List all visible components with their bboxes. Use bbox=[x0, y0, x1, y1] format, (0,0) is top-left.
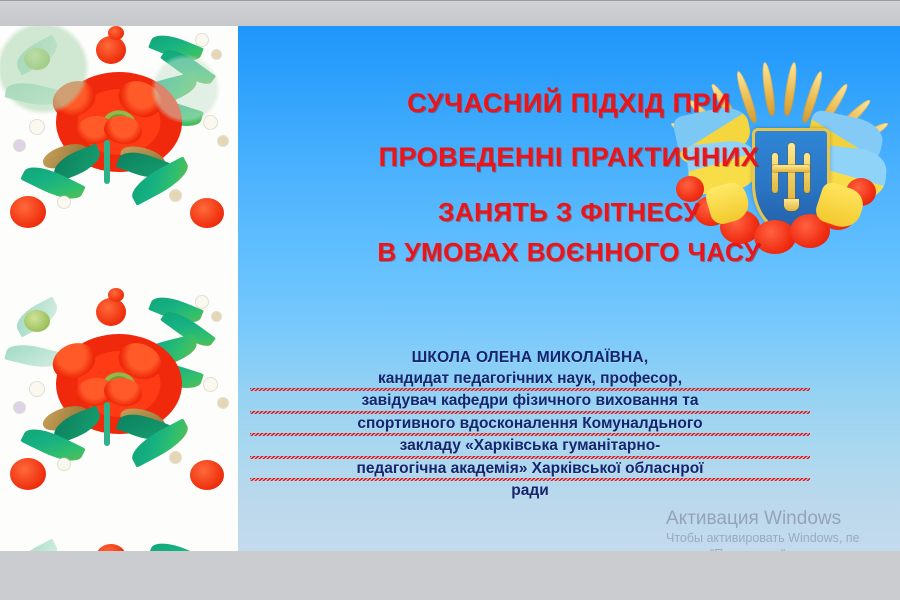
title-line-1: СУЧАСНИЙ ПІДХІД ПРИ bbox=[238, 88, 900, 119]
slide-title: СУЧАСНИЙ ПІДХІД ПРИ ПРОВЕДЕННІ ПРАКТИЧНИ… bbox=[238, 26, 900, 268]
author-line-4: спортивного вдосконалення Комуналдьного bbox=[250, 414, 810, 437]
title-line-2: ПРОВЕДЕННІ ПРАКТИЧНИХ bbox=[238, 142, 900, 173]
author-line-3: завідувач кафедри фізичного виховання та bbox=[250, 391, 810, 414]
windows-activation-watermark: Активация Windows Чтобы активировать Win… bbox=[666, 507, 900, 551]
slide-canvas: СУЧАСНИЙ ПІДХІД ПРИ ПРОВЕДЕННІ ПРАКТИЧНИ… bbox=[0, 26, 900, 551]
slide-author-block: ШКОЛА ОЛЕНА МИКОЛАЇВНА, кандидат педагог… bbox=[250, 348, 810, 502]
author-name: ШКОЛА ОЛЕНА МИКОЛАЇВНА, bbox=[250, 348, 810, 369]
presentation-window: СУЧАСНИЙ ПІДХІД ПРИ ПРОВЕДЕННІ ПРАКТИЧНИ… bbox=[0, 0, 900, 600]
floral-motif-unit bbox=[0, 544, 238, 551]
watermark-title: Активация Windows bbox=[666, 507, 900, 530]
title-line-4: В УМОВАХ ВОЄННОГО ЧАСУ bbox=[238, 237, 900, 268]
window-chrome-top-bar bbox=[0, 0, 900, 26]
window-chrome-bottom-bar bbox=[0, 551, 900, 600]
title-line-3: ЗАНЯТЬ З ФІТНЕСУ bbox=[238, 197, 900, 228]
watermark-line-1: Чтобы активировать Windows, пе bbox=[666, 530, 900, 546]
petrykivka-floral-border bbox=[0, 26, 238, 551]
author-line-7: ради bbox=[250, 481, 810, 502]
author-line-6: педагогічна академія» Харківської обласн… bbox=[250, 459, 810, 482]
author-line-2: кандидат педагогічних наук, професор, bbox=[250, 369, 810, 392]
author-line-5: закладу «Харківська гуманітарно- bbox=[250, 436, 810, 459]
floral-motif-unit bbox=[0, 26, 238, 282]
floral-motif-unit bbox=[0, 282, 238, 544]
